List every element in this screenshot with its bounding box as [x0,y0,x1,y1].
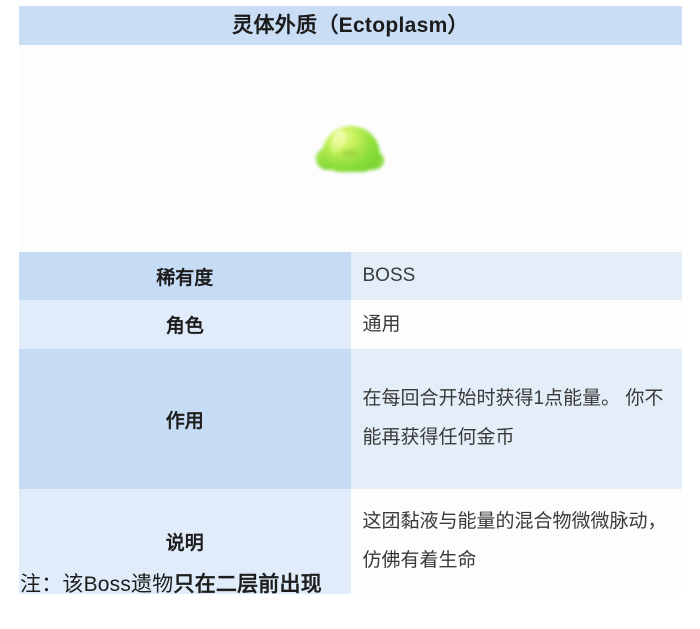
slime-core-shape [340,148,360,159]
row-value-role: 通用 [351,300,683,349]
table-row: 作用 在每回合开始时获得1点能量。 你不能再获得任何金币 [19,349,682,489]
row-label-role: 角色 [19,300,351,349]
relic-info-table: 灵体外质（Ectoplasm） 稀有度 BOSS 角 [19,6,682,594]
card-artwork-row [19,45,682,252]
footnote-emphasis: 只在二层前出现 [174,573,322,596]
relic-info-page: 灵体外质（Ectoplasm） 稀有度 BOSS 角 [0,0,700,629]
card-title-row: 灵体外质（Ectoplasm） [19,6,682,45]
row-value-effect: 在每回合开始时获得1点能量。 你不能再获得任何金币 [351,349,683,489]
card-title: 灵体外质（Ectoplasm） [19,6,682,45]
row-value-description: 这团黏液与能量的混合物微微脉动，仿佛有着生命 [351,489,683,594]
footnote: 注：该Boss遗物只在二层前出现 [20,568,322,598]
green-slime-artwork [316,118,386,180]
table-row: 稀有度 BOSS [19,252,682,300]
artwork-cell [19,45,682,252]
footnote-prefix: 注：该Boss遗物 [20,573,174,596]
table-row: 角色 通用 [19,300,682,349]
row-value-rarity: BOSS [351,252,683,300]
row-label-rarity: 稀有度 [19,252,351,300]
row-label-effect: 作用 [19,349,351,489]
